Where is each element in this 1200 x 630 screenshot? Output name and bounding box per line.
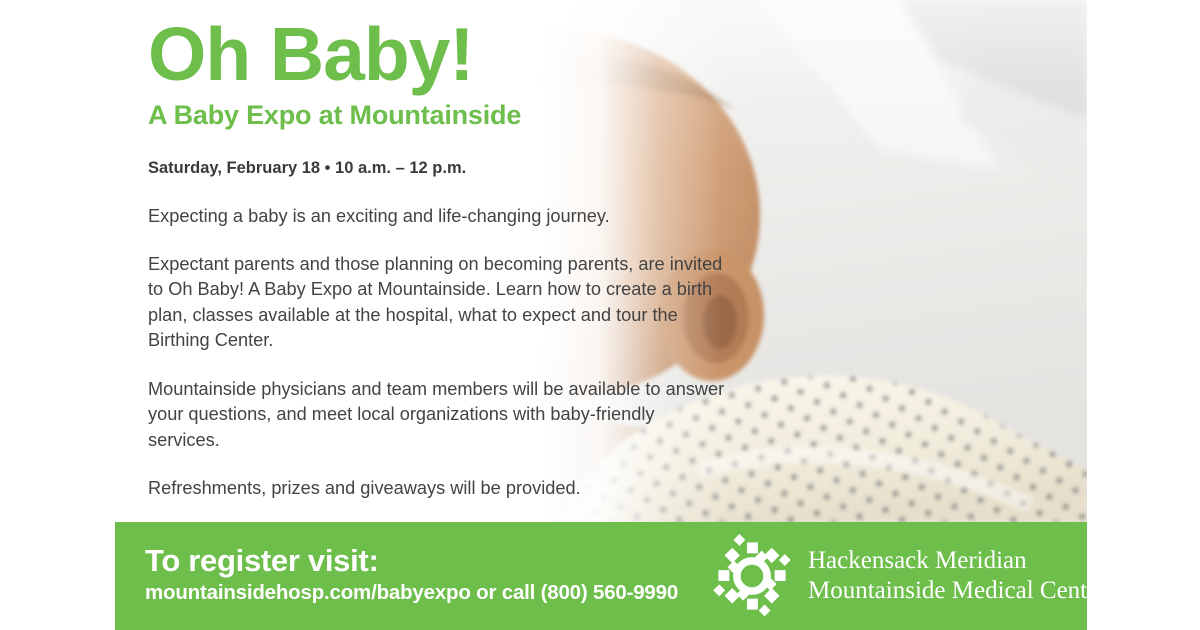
logo-line-1: Hackensack Meridian xyxy=(808,546,1107,576)
baby-expo-flyer: Oh Baby! A Baby Expo at Mountainside Sat… xyxy=(0,0,1200,630)
page-title: Oh Baby! xyxy=(148,14,728,94)
body-paragraph-4: Refreshments, prizes and giveaways will … xyxy=(148,476,728,502)
register-heading: To register visit: xyxy=(145,544,678,578)
register-details[interactable]: mountainsidehosp.com/babyexpo or call (8… xyxy=(145,581,678,605)
hospital-logo: Hackensack Meridian Mountainside Medical… xyxy=(710,534,1107,618)
hackensack-meridian-starburst-logo-icon xyxy=(710,534,794,618)
logo-wordmark: Hackensack Meridian Mountainside Medical… xyxy=(808,546,1107,606)
body-paragraph-1: Expecting a baby is an exciting and life… xyxy=(148,204,728,230)
event-datetime: Saturday, February 18 • 10 a.m. – 12 p.m… xyxy=(148,158,728,178)
body-paragraph-3: Mountainside physicians and team members… xyxy=(148,377,728,454)
flyer-text-block: Oh Baby! A Baby Expo at Mountainside Sat… xyxy=(148,14,728,502)
logo-line-2: Mountainside Medical Center xyxy=(808,576,1107,606)
registration-info: To register visit: mountainsidehosp.com/… xyxy=(145,544,678,605)
body-paragraph-2: Expectant parents and those planning on … xyxy=(148,252,728,354)
registration-footer-bar: To register visit: mountainsidehosp.com/… xyxy=(115,522,1087,630)
page-subtitle: A Baby Expo at Mountainside xyxy=(148,100,728,130)
